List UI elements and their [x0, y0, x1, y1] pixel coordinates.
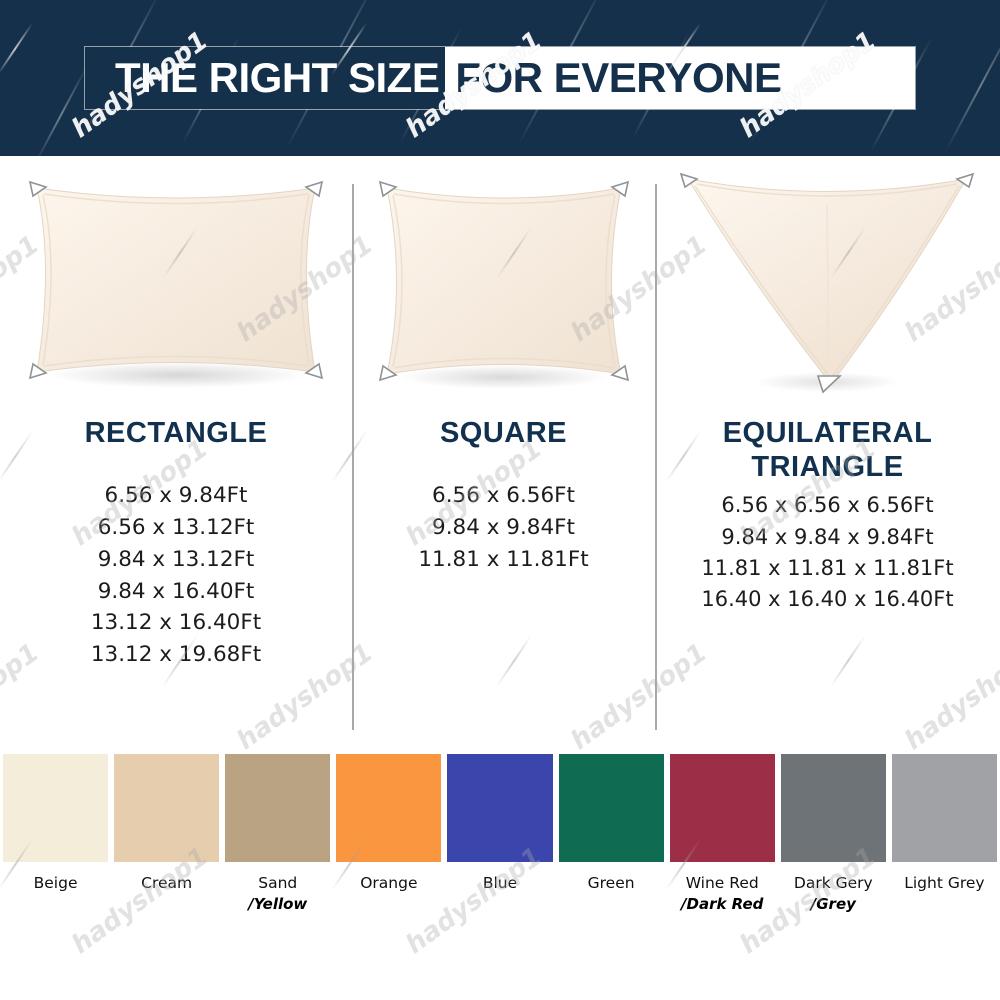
size-option: 11.81 x 11.81Ft [352, 544, 655, 576]
swatch-cell [222, 754, 333, 862]
header-title-primary: THE RIGHT SIZE [115, 57, 439, 99]
color-swatch-orange[interactable] [336, 754, 441, 862]
header-title-secondary: FOR EVERYONE [455, 57, 781, 99]
color-label-primary: Wine Red [686, 874, 759, 892]
color-swatch-sand[interactable] [225, 754, 330, 862]
size-list-square: 6.56 x 6.56Ft9.84 x 9.84Ft11.81 x 11.81F… [352, 480, 655, 575]
color-swatch-wine-red[interactable] [670, 754, 775, 862]
diagonal-streak [34, 66, 87, 156]
color-label-primary: Sand [258, 874, 297, 892]
size-list-rectangle: 6.56 x 9.84Ft6.56 x 13.12Ft9.84 x 13.12F… [0, 480, 352, 671]
shape-column-square: SQUARE 6.56 x 6.56Ft9.84 x 9.84Ft11.81 x… [352, 156, 655, 576]
color-label-row: BeigeCreamSand/YellowOrangeBlueGreenWine… [0, 872, 1000, 916]
size-option: 6.56 x 13.12Ft [0, 512, 352, 544]
color-swatch-light-grey[interactable] [892, 754, 997, 862]
swatch-cell [0, 754, 111, 862]
color-swatch-beige[interactable] [3, 754, 108, 862]
title-segment-light: FOR EVERYONE [445, 47, 915, 109]
header-title-box: THE RIGHT SIZE FOR EVERYONE [84, 46, 916, 110]
size-list-triangle: 6.56 x 6.56 x 6.56Ft9.84 x 9.84 x 9.84Ft… [655, 490, 1000, 614]
swatch-cell [667, 754, 778, 862]
swatch-cell [111, 754, 222, 862]
color-swatch-row [0, 754, 1000, 862]
shape-column-rectangle: RECTANGLE 6.56 x 9.84Ft6.56 x 13.12Ft9.8… [0, 156, 352, 671]
color-swatch-dark-gery[interactable] [781, 754, 886, 862]
color-label: Orange [333, 872, 444, 916]
color-swatch-green[interactable] [559, 754, 664, 862]
shape-title-rectangle: RECTANGLE [0, 416, 352, 450]
swatch-cell [556, 754, 667, 862]
swatch-cell [333, 754, 444, 862]
color-swatch-blue[interactable] [447, 754, 552, 862]
color-label: Dark Gery/Grey [778, 872, 889, 916]
color-label: Beige [0, 872, 111, 916]
color-label-primary: Dark Gery [794, 874, 873, 892]
color-label-primary: Blue [483, 874, 517, 892]
size-option: 13.12 x 19.68Ft [0, 639, 352, 671]
swatch-cell [444, 754, 555, 862]
size-option: 9.84 x 9.84 x 9.84Ft [655, 522, 1000, 553]
color-label-alternate: /Yellow [222, 894, 333, 916]
size-option: 13.12 x 16.40Ft [0, 607, 352, 639]
swatch-cell [889, 754, 1000, 862]
size-option: 11.81 x 11.81 x 11.81Ft [655, 553, 1000, 584]
shape-column-triangle: EQUILATERAL TRIANGLE 6.56 x 6.56 x 6.56F… [655, 156, 1000, 615]
infographic-page: THE RIGHT SIZE FOR EVERYONE [0, 0, 1000, 1000]
color-label: Green [556, 872, 667, 916]
color-label-alternate: /Dark Red [667, 894, 778, 916]
size-option: 16.40 x 16.40 x 16.40Ft [655, 584, 1000, 615]
color-label: Cream [111, 872, 222, 916]
color-label: Blue [444, 872, 555, 916]
color-label-primary: Light Grey [904, 874, 984, 892]
color-label-primary: Orange [360, 874, 417, 892]
size-option: 9.84 x 13.12Ft [0, 544, 352, 576]
shapes-section: RECTANGLE 6.56 x 9.84Ft6.56 x 13.12Ft9.8… [0, 156, 1000, 736]
triangle-shade-sail-icon [655, 156, 1000, 408]
color-label: Wine Red/Dark Red [667, 872, 778, 916]
color-label: Sand/Yellow [222, 872, 333, 916]
size-option: 6.56 x 6.56Ft [352, 480, 655, 512]
diagonal-streak [945, 18, 1000, 151]
size-option: 9.84 x 9.84Ft [352, 512, 655, 544]
color-label-alternate: /Grey [778, 894, 889, 916]
color-label-primary: Beige [34, 874, 78, 892]
title-segment-dark: THE RIGHT SIZE [85, 47, 445, 109]
shape-title-triangle: EQUILATERAL TRIANGLE [655, 416, 1000, 484]
square-shade-sail-icon [352, 156, 655, 408]
shape-title-square: SQUARE [352, 416, 655, 450]
rectangle-shade-sail-icon [0, 156, 352, 408]
size-option: 6.56 x 9.84Ft [0, 480, 352, 512]
size-option: 9.84 x 16.40Ft [0, 576, 352, 608]
color-label-primary: Cream [141, 874, 192, 892]
color-label-primary: Green [588, 874, 635, 892]
color-label: Light Grey [889, 872, 1000, 916]
color-swatch-cream[interactable] [114, 754, 219, 862]
size-option: 6.56 x 6.56 x 6.56Ft [655, 490, 1000, 521]
swatch-cell [778, 754, 889, 862]
